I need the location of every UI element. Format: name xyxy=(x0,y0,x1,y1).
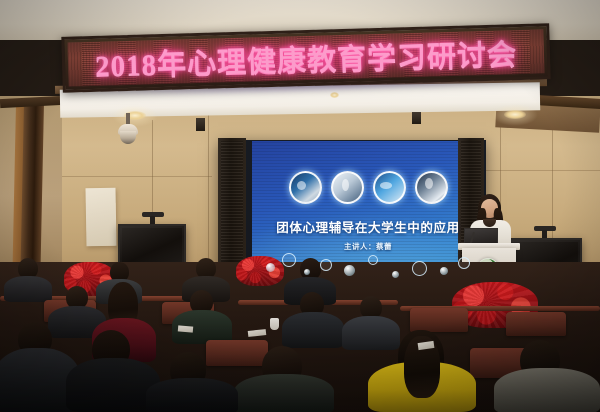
ceiling-sensor-icon xyxy=(330,92,339,98)
wall-camera-icon xyxy=(196,118,205,131)
wall-panel-line xyxy=(62,176,212,177)
photo-badge-2-icon xyxy=(331,171,364,204)
audience-shoulders xyxy=(4,276,52,302)
slide-bubble xyxy=(392,271,399,278)
slide-title: 团体心理辅导在大学生中的应用 xyxy=(252,217,484,236)
audience-shoulders xyxy=(342,316,400,350)
handout-paper xyxy=(178,325,193,332)
led-banner-text: 2018年心理健康教育学习研讨会 xyxy=(94,31,517,85)
slide-bubble xyxy=(440,267,448,275)
chair-back xyxy=(506,312,566,336)
slide-bubble xyxy=(344,265,355,276)
chair-back xyxy=(410,308,468,332)
wall-whiteboard xyxy=(85,188,116,247)
slide-bubble xyxy=(458,257,470,269)
chair-back xyxy=(206,340,268,366)
downlight-icon xyxy=(504,110,526,119)
photo-badge-3-icon xyxy=(373,171,406,204)
flower-arrangement-center xyxy=(236,256,284,286)
led-banner-face: 2018年心理健康教育学习研讨会 xyxy=(67,29,544,86)
audience-shoulders xyxy=(494,368,600,412)
slide-bubble xyxy=(282,253,296,267)
slide-subtitle: 主讲人：蔡蕾 xyxy=(252,241,484,252)
paper-cup xyxy=(270,318,279,330)
slide-bubble xyxy=(304,269,310,275)
slide-bubble xyxy=(266,263,275,272)
slide-bubble xyxy=(368,255,378,265)
slide-bubble xyxy=(320,259,332,271)
photo-badge-4-icon xyxy=(415,171,448,204)
monitor-left xyxy=(118,224,186,266)
wall-camera-icon xyxy=(412,112,421,124)
slide-icon-row xyxy=(252,171,484,204)
photo-badge-1-icon xyxy=(289,171,322,204)
slide-bubble xyxy=(412,261,427,276)
conference-hall-photo: 2018年心理健康教育学习研讨会 团体心理辅导在大学生中的应用 主讲人：蔡蕾 xyxy=(0,0,600,412)
audience-shoulders xyxy=(282,312,344,348)
audience-shoulders xyxy=(234,374,334,412)
wall-panel-line xyxy=(486,170,600,171)
audience-shoulders xyxy=(146,378,238,412)
